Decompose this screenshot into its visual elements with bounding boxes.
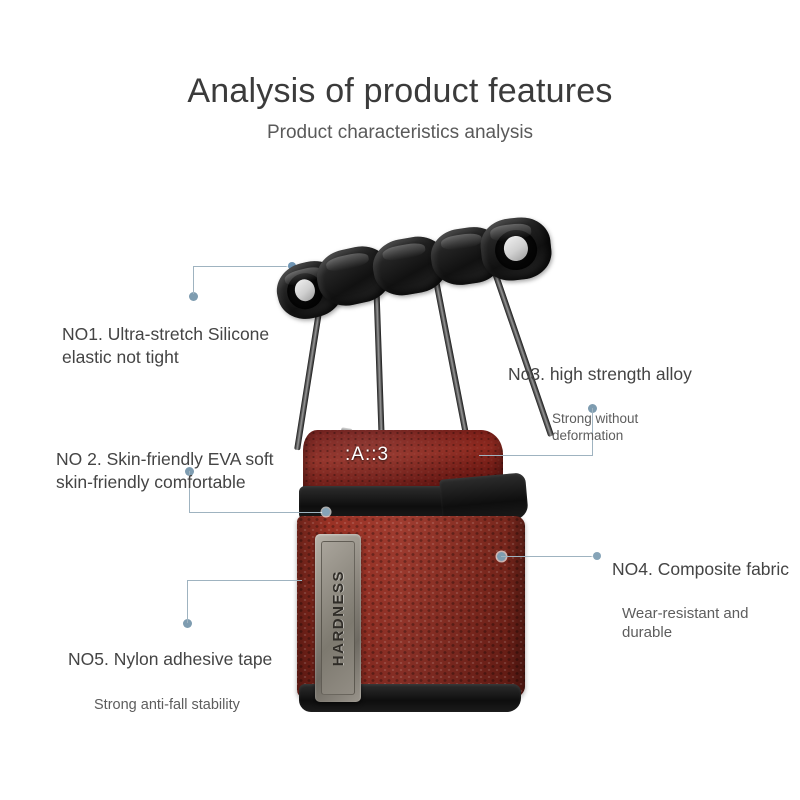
- page-title: Analysis of product features: [0, 72, 800, 111]
- finger-ring-5: [478, 215, 554, 284]
- annotation-no2: NO 2. Skin-friendly EVA soft skin-friend…: [56, 428, 346, 514]
- annotation-no3-sub: Strong without deformation: [552, 411, 768, 445]
- annotation-no3-main: No3. high strength alloy: [508, 363, 768, 385]
- annotation-no3: No3. high strength alloy Strong without …: [508, 343, 768, 466]
- leader-segment-horizontal: [187, 580, 302, 581]
- ring-opening: [493, 228, 539, 272]
- leader-segment-horizontal: [193, 266, 293, 267]
- ring-highlight: [381, 241, 426, 263]
- ring-highlight: [440, 231, 483, 251]
- alloy-rod: [373, 276, 385, 454]
- buckle-brand-text: HARDNESS: [330, 570, 347, 666]
- page-subtitle: Product characteristics analysis: [0, 122, 800, 144]
- annotation-no4-main: NO4. Composite fabric: [612, 558, 800, 580]
- annotation-no2-main: NO 2. Skin-friendly EVA soft skin-friend…: [56, 448, 346, 493]
- feature-analysis-infographic: Analysis of product features Product cha…: [0, 0, 800, 800]
- annotation-no1-main: NO1. Ultra-stretch Silicone elastic not …: [62, 323, 332, 368]
- ring-highlight: [325, 250, 370, 273]
- annotation-no5-sub: Strong anti-fall stability: [94, 696, 328, 714]
- annotation-no4-sub: Wear-resistant and durable: [622, 605, 800, 643]
- annotation-no5-main: NO5. Nylon adhesive tape: [68, 648, 328, 670]
- leader-dot-no4-label: [593, 552, 601, 560]
- leader-segment-vertical: [193, 266, 194, 294]
- leader-segment-horizontal: [501, 556, 597, 557]
- product-overlay-text: :A::3: [345, 444, 389, 466]
- leader-segment-vertical: [187, 580, 188, 623]
- annotation-no5: NO5. Nylon adhesive tape Strong anti-fal…: [68, 628, 328, 735]
- annotation-no4: NO4. Composite fabric Wear-resistant and…: [612, 538, 800, 663]
- alloy-rod: [431, 269, 471, 447]
